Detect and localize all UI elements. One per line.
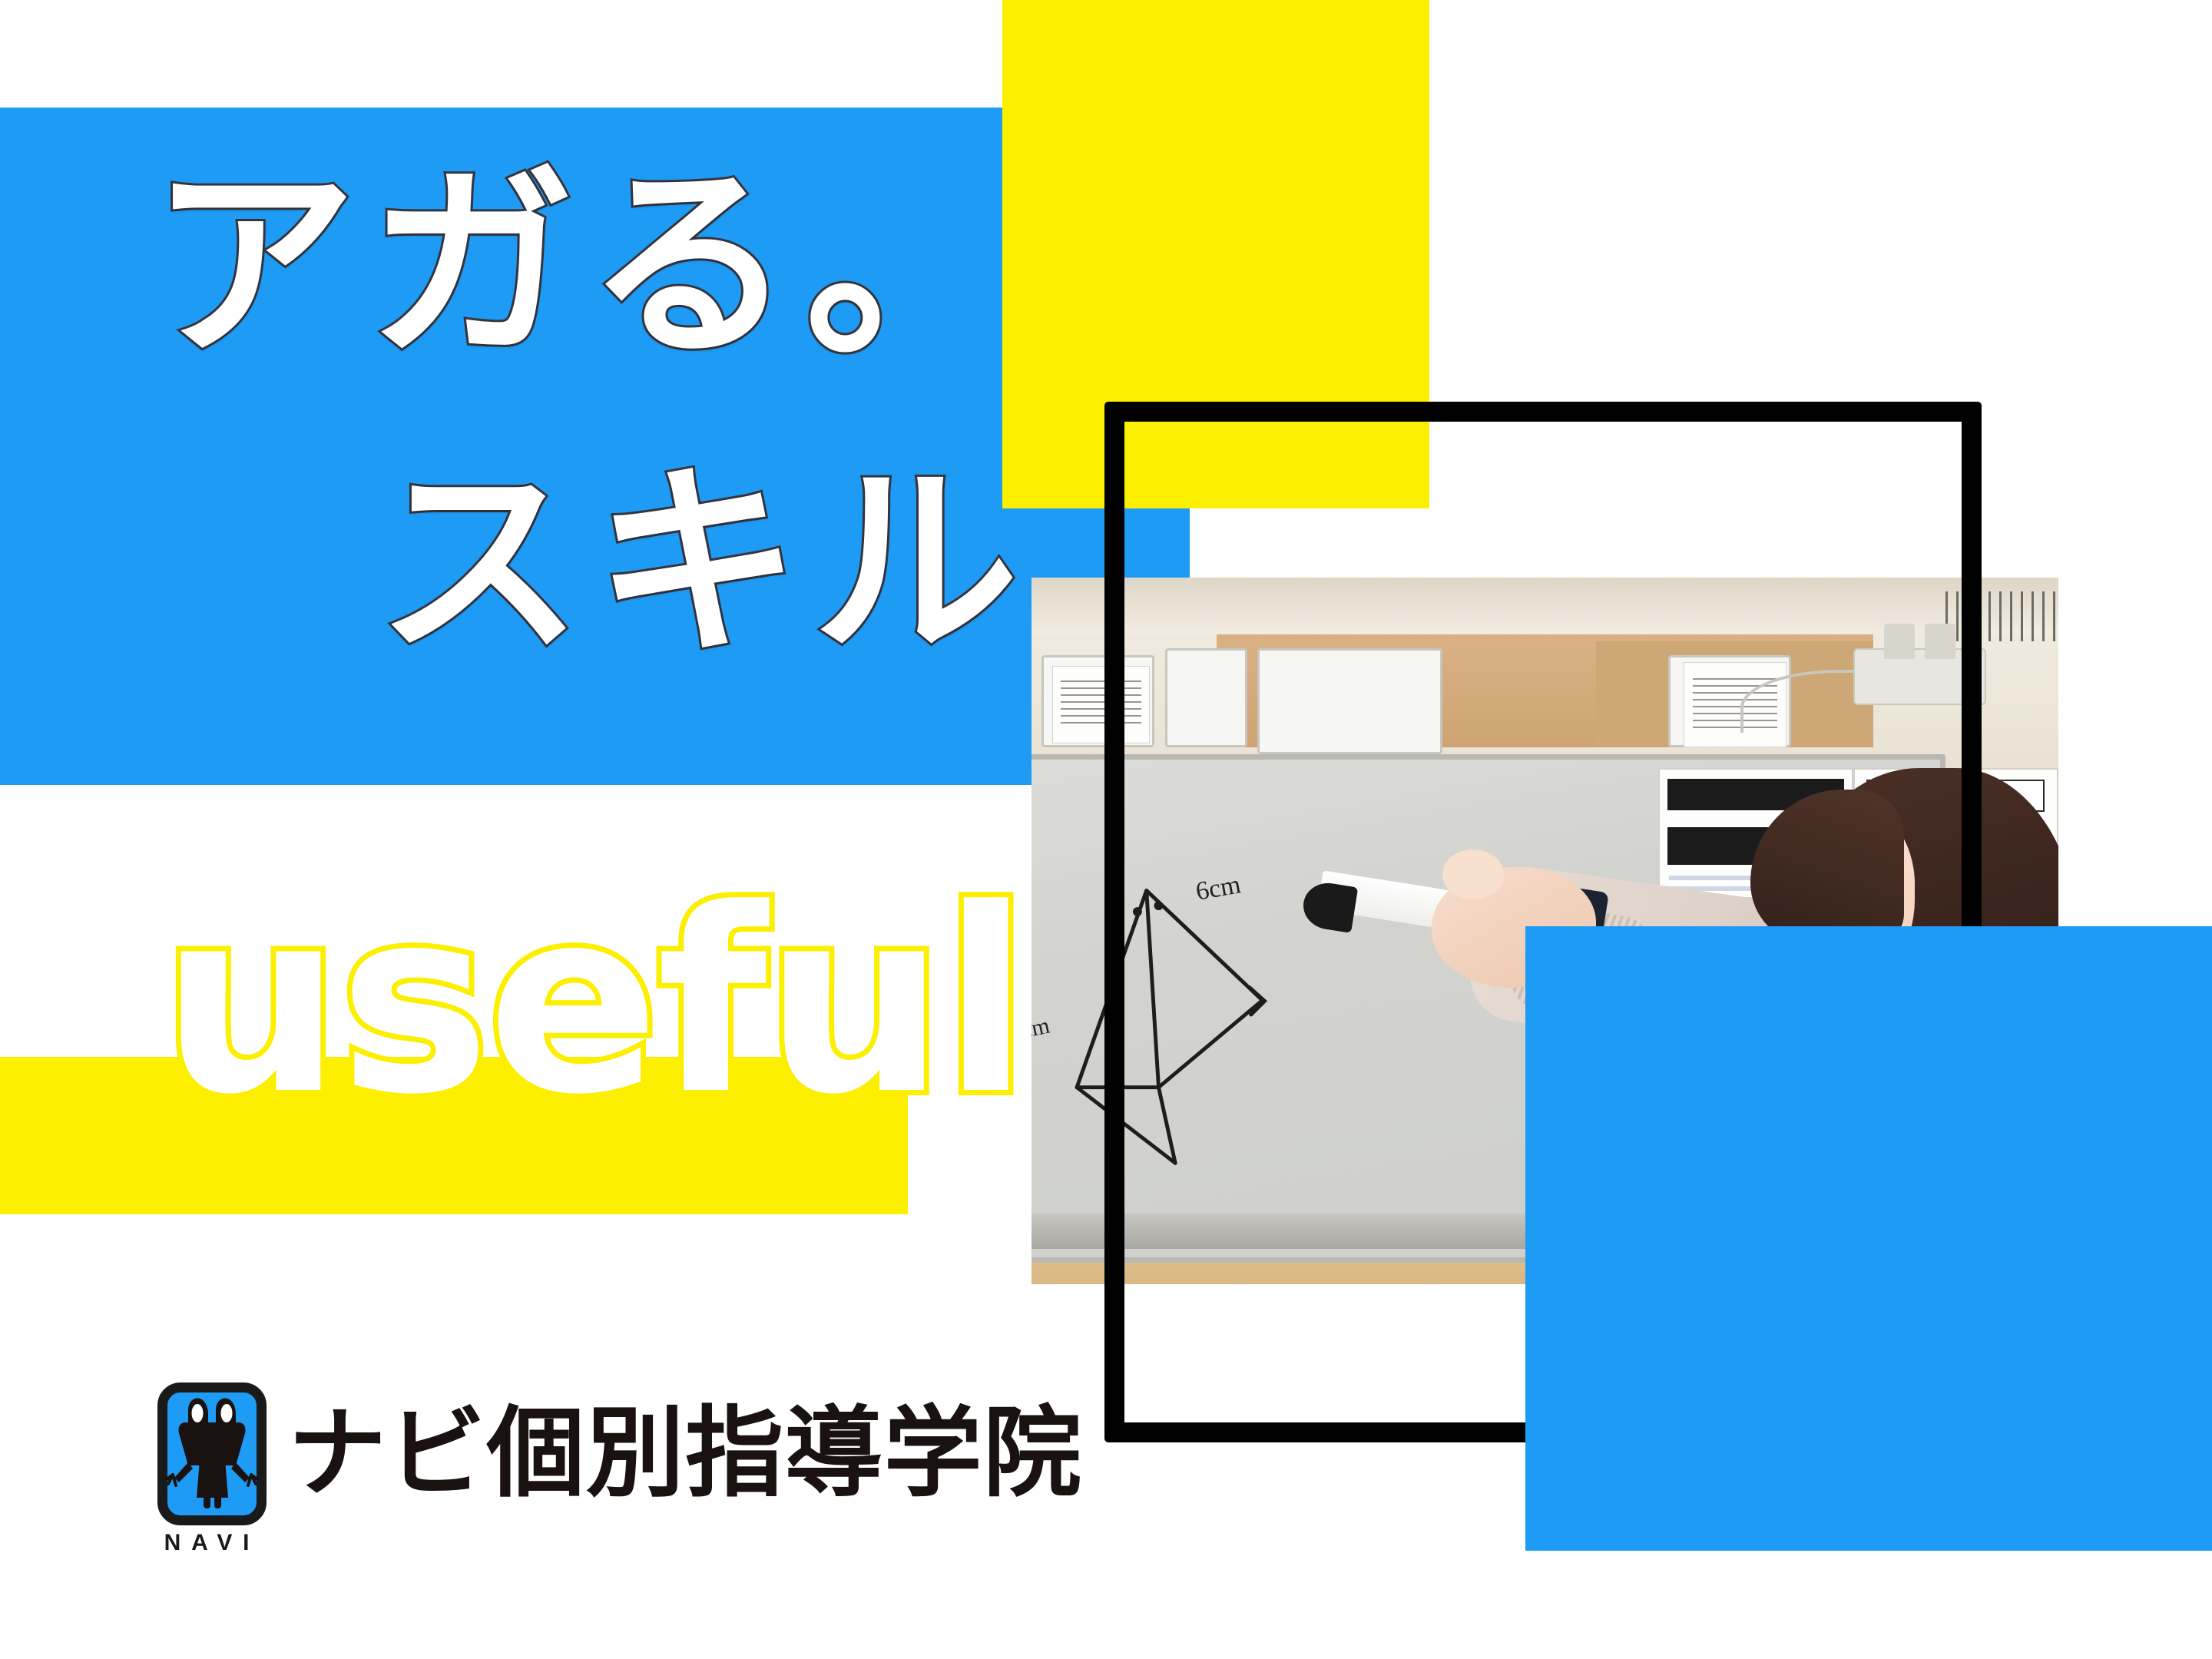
photo-power-strip [1853, 648, 1987, 705]
brand-logo: NAVI ナビ個別指導学院 [157, 1382, 1082, 1525]
photo-coat-hangers [1945, 591, 2058, 641]
photo-plug-1 [1884, 624, 1915, 659]
navi-sub-label: NAVI [157, 1530, 267, 1556]
wordmark-useful: useful [161, 876, 1027, 1129]
photo-pinned-notice-1 [1052, 666, 1150, 743]
photo-thumb [1442, 849, 1504, 899]
headline-line-1: アガる。 [151, 163, 1023, 369]
decor-block-blue-bottom [1525, 926, 2212, 1551]
brand-name: ナビ個別指導学院 [288, 1405, 1082, 1503]
headline-line-2: スキル [376, 461, 1031, 667]
poster-canvas: 6cm cm [0, 0, 2212, 1659]
navi-mascot-glyph [157, 1382, 267, 1525]
photo-plug-2 [1925, 624, 1955, 659]
photo-shelf-board-3 [1257, 648, 1442, 754]
photo-shelf-board-2 [1165, 648, 1247, 747]
navi-mascot-icon: NAVI [157, 1382, 267, 1525]
photo-notice-lines [1061, 680, 1141, 727]
photo-board-diagram [1031, 860, 1319, 1178]
decor-block-yellow-top [1002, 0, 1429, 508]
